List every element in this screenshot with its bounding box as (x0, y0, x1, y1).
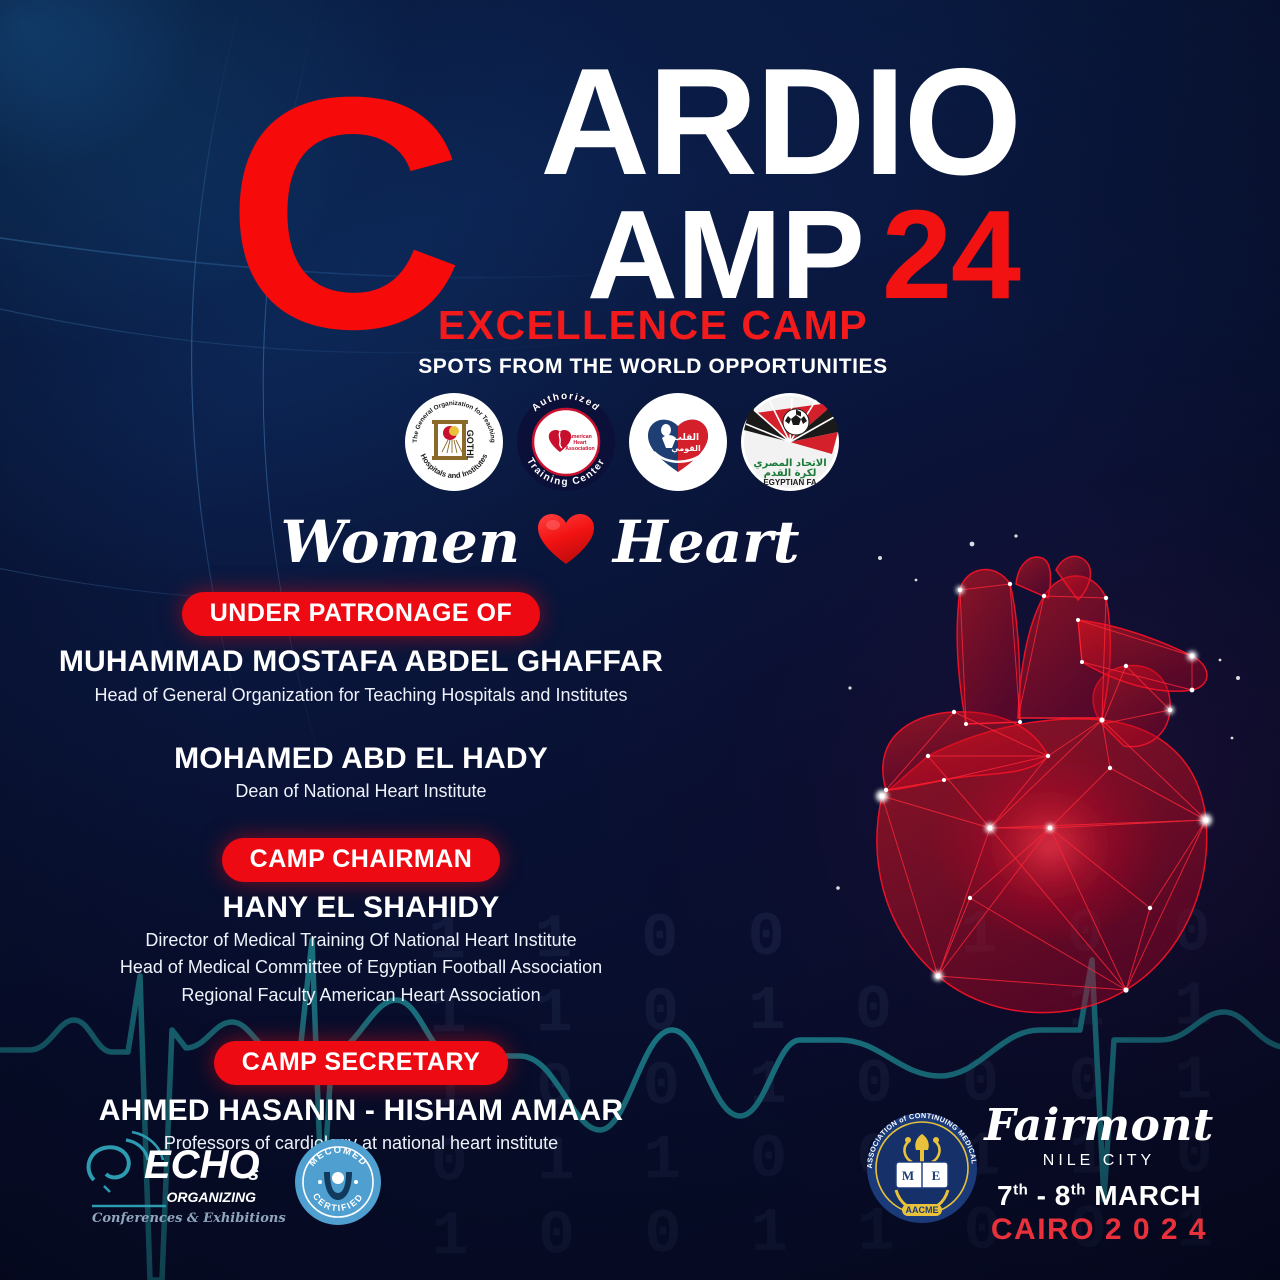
svg-text:Conferences & Exhibitions: Conferences & Exhibitions (92, 1211, 286, 1226)
aha-authorized-training-center-logo: Authorized Training Center American Hear… (516, 392, 616, 492)
pill-under-patronage: UNDER PATRONAGE OF (182, 592, 541, 636)
egyptian-fa-logo: الاتحاد المصري لكرة القدم EGYPTIAN FA (740, 392, 840, 492)
hotel-location: NILE CITY (984, 1152, 1214, 1170)
svg-text:E: E (932, 1168, 941, 1183)
person-role: Head of General Organization for Teachin… (0, 683, 722, 707)
svg-text:AACME: AACME (906, 1205, 939, 1215)
mecomed-certified-badge: MECOMED CERTIFIED (294, 1138, 382, 1226)
accreditation-badge-row: The General Organization for Teaching Ho… (404, 392, 840, 492)
women-heart-lockup: Women Heart (0, 508, 1280, 576)
people-sections: UNDER PATRONAGE OF MUHAMMAD MOSTAFA ABDE… (0, 592, 722, 1156)
person-name: HANY EL SHAHIDY (0, 891, 722, 926)
hotel-name: Fairmont (984, 1104, 1214, 1148)
svg-text:القلب: القلب (673, 433, 699, 443)
women-word: Women (280, 508, 520, 576)
person-role: Dean of National Heart Institute (0, 779, 722, 803)
title-line-camp: AMP24 (0, 192, 1020, 318)
low-poly-heart-icon (820, 528, 1260, 1028)
sub-tagline: SPOTS FROM THE WORLD OPPORTUNITIES (0, 355, 1280, 379)
venue-block: Fairmont NILE CITY 7th - 8th MARCH CAIRO… (984, 1104, 1214, 1247)
heart-word: Heart (613, 508, 800, 576)
event-date: 7th - 8th MARCH (984, 1180, 1214, 1212)
person-name: MOHAMED ABD EL HADY (0, 742, 722, 777)
event-city-year: CAIRO 2 0 2 4 (984, 1213, 1214, 1247)
gothi-logo: The General Organization for Teaching Ho… (404, 392, 504, 492)
national-heart-institute-logo: القلب القومي (628, 392, 728, 492)
echos-logo: ECHO s ORGANIZING Conferences & Exhibiti… (82, 1122, 312, 1230)
pill-camp-secretary: CAMP SECRETARY (214, 1041, 509, 1085)
title-line-cardio: ARDIO (0, 46, 1020, 198)
svg-text:ECHO: ECHO (144, 1143, 260, 1187)
svg-text:Association: Association (565, 446, 594, 452)
pill-camp-chairman: CAMP CHAIRMAN (222, 838, 501, 882)
svg-text:s: s (248, 1163, 259, 1185)
aacme-logo: AMERICAN ASSOCIATION of CONTINUING MEDIC… (866, 1112, 978, 1224)
section-camp-chairman: CAMP CHAIRMAN HANY EL SHAHIDY Director o… (0, 838, 722, 1007)
svg-text:EGYPTIAN FA: EGYPTIAN FA (763, 478, 817, 487)
section-under-patronage: UNDER PATRONAGE OF MUHAMMAD MOSTAFA ABDE… (0, 592, 722, 804)
person-role: Director of Medical Training Of National… (0, 928, 722, 952)
person-name: MUHAMMAD MOSTAFA ABDEL GHAFFAR (0, 645, 722, 680)
svg-text:القومي: القومي (671, 444, 701, 453)
svg-text:ORGANIZING: ORGANIZING (167, 1189, 257, 1205)
svg-text:M: M (902, 1168, 914, 1183)
poster-canvas: 1 1 0 0 1 0 0 1 0 0 0 1 1 0 1 1 0 1 0 1 … (0, 0, 1280, 1280)
person-role: Head of Medical Committee of Egyptian Fo… (0, 955, 722, 979)
tagline: EXCELLENCE CAMP (0, 302, 1280, 349)
heart-icon (538, 514, 594, 571)
svg-text:GOTHI: GOTHI (465, 430, 475, 459)
person-role: Regional Faculty American Heart Associat… (0, 983, 722, 1007)
